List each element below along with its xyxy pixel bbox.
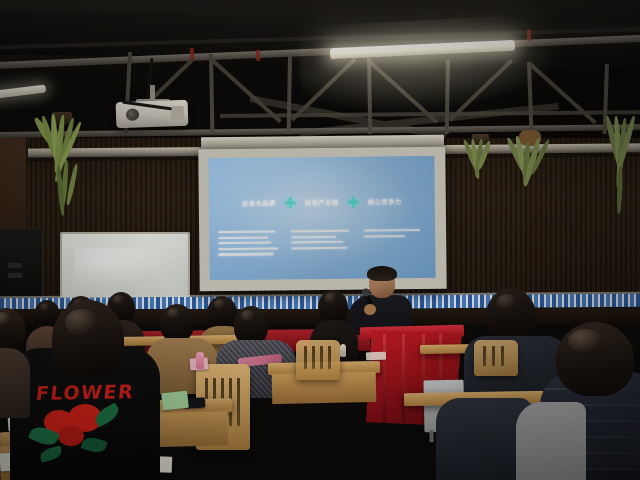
presenter-hair xyxy=(367,266,397,281)
flower-graphic xyxy=(58,426,84,446)
slide-column-1 xyxy=(218,230,280,259)
projected-slide: 企业大品牌 标准产业链 核心竞争力 xyxy=(208,156,435,280)
ceiling-area xyxy=(0,0,640,150)
red-cable-tie xyxy=(527,30,532,41)
chair-back-row xyxy=(296,340,340,380)
speaker-slot xyxy=(8,263,22,268)
slide-heading-2: 标准产业链 xyxy=(305,198,339,207)
truss-strut xyxy=(367,58,372,134)
attendee-head xyxy=(207,296,237,330)
red-cable-tie xyxy=(256,50,261,61)
truss-strut xyxy=(527,62,534,134)
truss-strut xyxy=(445,60,450,134)
slide-body-columns xyxy=(218,229,426,259)
attendee-head xyxy=(318,290,348,324)
attendee-head xyxy=(556,322,634,396)
red-cable-tie xyxy=(190,48,195,59)
attendee-head xyxy=(160,304,194,342)
jacket-flower-text: FLOWER xyxy=(35,381,148,405)
plus-icon xyxy=(348,197,359,208)
truss-strut xyxy=(287,56,292,134)
attendee-grey-shoulder xyxy=(516,402,586,480)
projector-lens-icon xyxy=(126,108,139,120)
water-bottle xyxy=(196,352,204,369)
paper-sheet xyxy=(366,352,386,361)
leaf-graphic xyxy=(92,402,122,427)
screen-light-falloff xyxy=(208,156,435,280)
presenter xyxy=(352,268,414,330)
slide-heading-3: 核心竞争力 xyxy=(368,197,402,206)
chair-right-row xyxy=(474,340,518,376)
slide-column-2 xyxy=(291,230,353,259)
leaf-graphic xyxy=(39,446,63,463)
truss-strut xyxy=(209,54,214,134)
chair-back xyxy=(296,340,340,380)
leaf-graphic xyxy=(80,435,107,456)
plus-icon xyxy=(285,197,296,208)
fluorescent-tube-light-secondary xyxy=(0,84,46,99)
chair-back xyxy=(474,340,518,376)
water-bottle xyxy=(340,344,346,357)
green-sheet xyxy=(161,391,189,411)
slide-column-3 xyxy=(364,229,426,258)
slide-heading-row: 企业大品牌 标准产业链 核心竞争力 xyxy=(209,196,435,209)
attendee-head xyxy=(52,300,124,378)
presentation-room-photo: 企业大品牌 标准产业链 核心竞争力 xyxy=(0,0,640,480)
attendee-torso xyxy=(0,348,30,418)
slide-heading-1: 企业大品牌 xyxy=(242,198,276,207)
loudspeaker-cabinet xyxy=(0,228,43,308)
speaker-slot xyxy=(8,273,22,278)
